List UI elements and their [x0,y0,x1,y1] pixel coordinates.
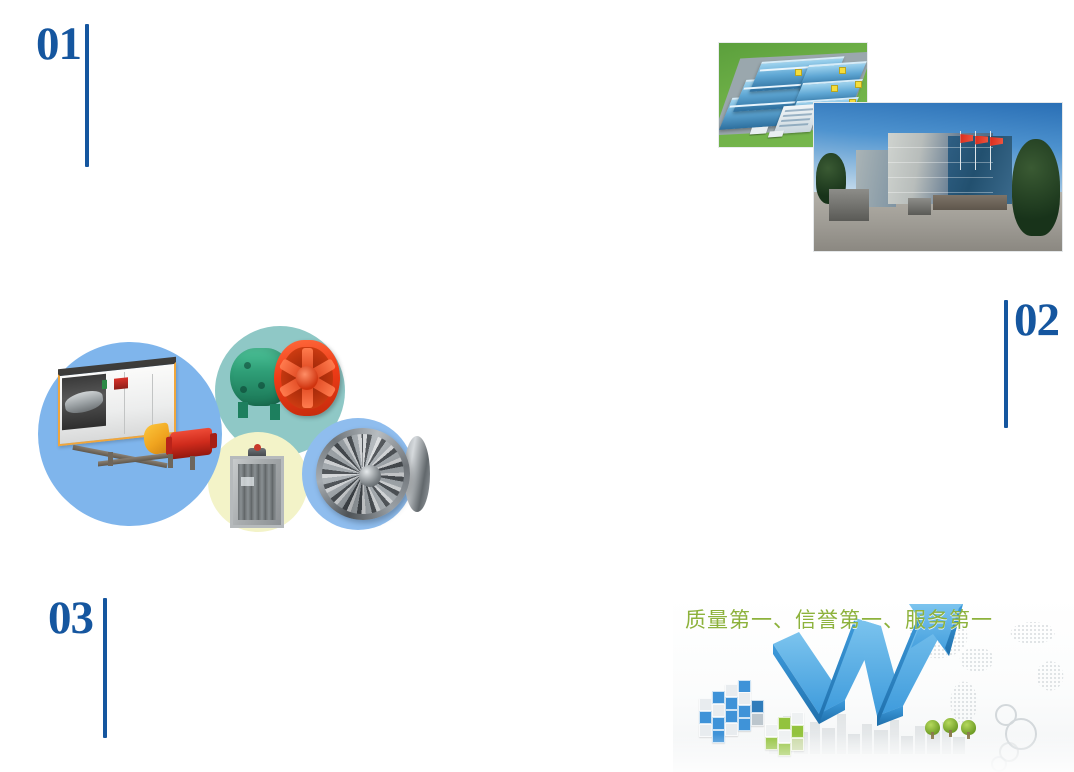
blue-rubik-cube [699,680,759,742]
axial-flow-fan-image [230,340,350,440]
section-number-01: 01 [36,22,81,66]
section-marker-02: 02 [1004,298,1059,428]
section-number-03: 03 [48,596,93,640]
render-truck-2 [768,131,784,138]
photo-glass-curtain-wall [948,136,1012,204]
office-building-photo-image [813,102,1063,252]
section-number-02: 02 [1014,298,1059,342]
section-rule-02 [1004,300,1008,428]
tree-icon-2 [943,718,958,733]
section-marker-03: 03 [48,596,107,738]
slogan-text: 质量第一、信誉第一、服务第一 [685,604,993,634]
philosophy-growth-graphic: 质量第一、信誉第一、服务第一 [673,596,1074,772]
photo-guard-booth [829,189,869,222]
floor-reflection [673,734,1074,772]
render-marker-4 [855,81,862,88]
render-marker-6 [795,69,802,76]
photo-gate-post [908,198,930,216]
photo-entrance-wall [933,195,1007,210]
cabinet-centrifugal-fan-image [58,368,218,488]
section-rule-01 [85,24,89,167]
fire-damper-image [230,448,290,534]
section-marker-01: 01 [36,22,89,167]
tree-icon-1 [925,720,940,735]
photo-tree-right [1012,139,1060,237]
poster-canvas: 01 02 03 [0,0,1074,772]
render-marker-1 [839,67,846,74]
render-truck-1 [750,126,769,134]
axial-impeller-ring [274,340,340,416]
tree-icon-3 [961,720,976,735]
mixed-flow-impeller-image [316,428,424,524]
product-collage [30,312,430,562]
render-marker-2 [831,85,838,92]
section-rule-03 [103,598,107,738]
photo-flagpole-3 [990,131,991,169]
